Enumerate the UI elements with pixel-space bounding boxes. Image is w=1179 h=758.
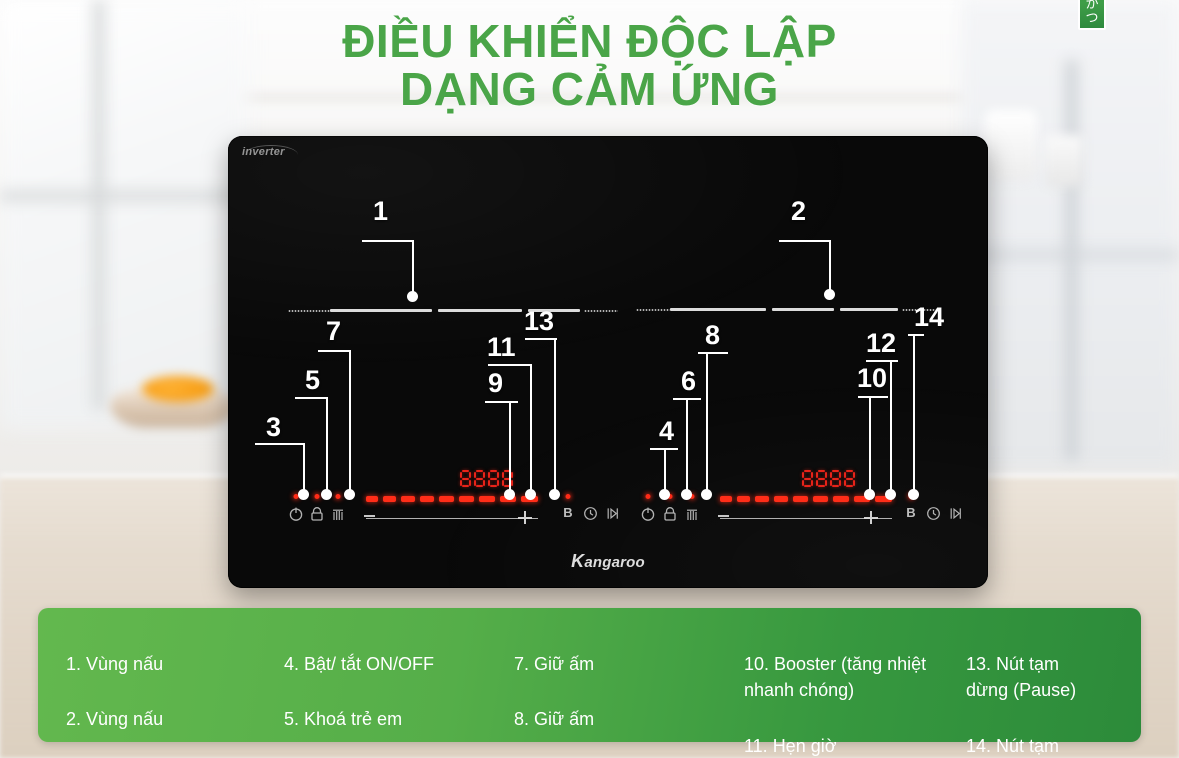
callout-number: 8 xyxy=(705,322,720,349)
cabinet-shelf xyxy=(960,250,1179,260)
induction-cooktop: inverter Kangaroo xyxy=(228,136,988,588)
keep-warm-led xyxy=(336,494,341,499)
callout-dot xyxy=(344,489,355,500)
callout-leader-v xyxy=(686,398,688,494)
control-panel-left: B xyxy=(288,484,618,540)
callout-leader-v xyxy=(913,334,915,494)
legend-item: 4. Bật/ tắt ON/OFF xyxy=(284,651,514,678)
callout-leader-h xyxy=(866,360,898,362)
background-jar-small xyxy=(1045,135,1083,187)
callout-leader-v xyxy=(890,360,892,494)
slider-plus-icon[interactable] xyxy=(518,511,532,524)
slider-plus-icon[interactable] xyxy=(864,511,878,524)
page-title: ĐIỀU KHIỂN ĐỘC LẬP DẠNG CẢM ỨNG xyxy=(0,18,1179,114)
legend-column-4: 10. Booster (tăng nhiệt nhanh chóng) 11.… xyxy=(744,624,966,742)
callout-dot xyxy=(908,489,919,500)
display-right xyxy=(802,470,855,487)
callout-leader-h xyxy=(318,350,351,352)
booster-led xyxy=(566,494,571,499)
legend-item: 7. Giữ ấm xyxy=(514,651,744,678)
background-food xyxy=(142,376,214,402)
callout-leader-h xyxy=(779,240,831,242)
zone-dots-left xyxy=(288,310,330,312)
slider-level-bars xyxy=(366,496,514,505)
seven-segment-digit xyxy=(802,470,813,487)
callout-dot xyxy=(659,489,670,500)
callout-number: 9 xyxy=(488,370,503,397)
slider-bar xyxy=(755,496,769,502)
slider-bar xyxy=(813,496,828,502)
callout-dot xyxy=(681,489,692,500)
cooking-zone-left xyxy=(288,309,618,313)
brand-k: K xyxy=(571,551,584,571)
legend-column-2: 4. Bật/ tắt ON/OFF 5. Khoá trẻ em 6. Kho… xyxy=(284,624,514,742)
inverter-logo: inverter xyxy=(242,146,312,168)
callout-dot xyxy=(321,489,332,500)
keep-warm-icon xyxy=(325,506,351,526)
seven-segment-digit xyxy=(816,470,827,487)
callout-leader-v xyxy=(303,443,305,494)
legend-column-3: 7. Giữ ấm 8. Giữ ấm 9. Booster (tăng nhi… xyxy=(514,624,744,742)
zone-dots-left xyxy=(636,309,670,311)
background-jar xyxy=(985,110,1037,182)
callout-leader-v xyxy=(509,401,511,494)
slider-minus-icon[interactable] xyxy=(364,515,375,517)
callout-dot xyxy=(864,489,875,500)
title-line-2: DẠNG CẢM ỨNG xyxy=(0,66,1179,114)
slider-bar xyxy=(737,496,750,502)
legend-column-5: 13. Nút tạm dừng (Pause) 14. Nút tạm dừn… xyxy=(966,624,1136,742)
legend-item: 1. Vùng nấu xyxy=(66,651,284,678)
callout-leader-h xyxy=(485,401,518,403)
pause-play-icon xyxy=(599,506,625,526)
legend-item: 13. Nút tạm dừng (Pause) xyxy=(966,651,1136,704)
callout-dot xyxy=(525,489,536,500)
slider-bar xyxy=(366,496,378,502)
legend-item: 11. Hẹn giờ xyxy=(744,733,966,758)
slider-minus-icon[interactable] xyxy=(718,515,729,517)
zone-segment xyxy=(772,308,834,311)
power-led xyxy=(646,494,651,499)
callout-number: 6 xyxy=(681,368,696,395)
seven-segment-digit xyxy=(474,470,485,487)
callout-dot xyxy=(407,291,418,302)
seven-segment-digit xyxy=(460,470,471,487)
legend-columns: 1. Vùng nấu 2. Vùng nấu 3. Bật/ tắt ON/O… xyxy=(38,608,1141,742)
callout-dot xyxy=(824,289,835,300)
callout-number: 5 xyxy=(305,367,320,394)
legend-item: 2. Vùng nấu xyxy=(66,706,284,733)
callout-leader-v xyxy=(664,448,666,494)
callout-leader-v xyxy=(829,240,831,294)
callout-leader-h xyxy=(255,443,305,445)
slider-level-bars xyxy=(720,496,860,505)
callout-dot xyxy=(885,489,896,500)
slider-bar xyxy=(720,496,732,502)
keep-warm-icon xyxy=(679,506,705,526)
callout-leader-v xyxy=(326,397,328,494)
callout-leader-v xyxy=(530,364,532,494)
slider-bar xyxy=(401,496,415,502)
title-line-1: ĐIỀU KHIỂN ĐỘC LẬP xyxy=(342,15,837,67)
callout-dot xyxy=(549,489,560,500)
callout-dot xyxy=(504,489,515,500)
callout-leader-v xyxy=(869,396,871,494)
zone-segment xyxy=(670,308,766,311)
callout-number: 10 xyxy=(857,365,887,392)
slider-bar xyxy=(439,496,454,502)
legend-panel: 1. Vùng nấu 2. Vùng nấu 3. Bật/ tắt ON/O… xyxy=(38,608,1141,742)
seven-segment-digit xyxy=(502,470,513,487)
callout-number: 14 xyxy=(914,304,944,331)
callout-leader-h xyxy=(698,352,728,354)
callout-leader-h xyxy=(908,334,924,336)
display-left xyxy=(460,470,513,487)
zone-segment xyxy=(330,309,432,312)
callout-number: 12 xyxy=(866,330,896,357)
callout-leader-v xyxy=(412,240,414,296)
callout-number: 2 xyxy=(791,198,806,225)
callout-leader-v xyxy=(706,352,708,494)
slider-bar xyxy=(833,496,849,502)
slider-bar xyxy=(793,496,808,502)
callout-leader-h xyxy=(858,396,888,398)
zone-segment xyxy=(438,309,522,312)
callout-number: 7 xyxy=(326,318,341,345)
callout-leader-h xyxy=(488,364,532,366)
callout-dot xyxy=(701,489,712,500)
callout-number: 11 xyxy=(487,334,516,361)
callout-number: 13 xyxy=(524,308,554,335)
cooking-zone-right xyxy=(636,308,936,312)
callout-leader-h xyxy=(362,240,414,242)
seven-segment-digit xyxy=(830,470,841,487)
slider-bar xyxy=(420,496,434,502)
japanese-badge: かつ xyxy=(1078,0,1106,30)
brand-rest: angaroo xyxy=(584,554,645,571)
child-lock-led xyxy=(315,494,320,499)
window-mullion-horizontal xyxy=(0,190,248,202)
slider-bar xyxy=(383,496,396,502)
legend-item: 14. Nút tạm dừng (Pause xyxy=(966,733,1136,758)
legend-item: 5. Khoá trẻ em xyxy=(284,706,514,733)
legend-column-1: 1. Vùng nấu 2. Vùng nấu 3. Bật/ tắt ON/O… xyxy=(66,624,284,742)
poster-canvas: かつ ĐIỀU KHIỂN ĐỘC LẬP DẠNG CẢM ỨNG inver… xyxy=(0,0,1179,758)
callout-leader-v xyxy=(554,338,556,494)
slider-bar xyxy=(459,496,474,502)
slider-track[interactable] xyxy=(366,518,538,519)
pause-play-icon xyxy=(942,506,968,526)
slider-bar xyxy=(774,496,788,502)
zone-dots-right xyxy=(584,310,618,312)
legend-item: 8. Giữ ấm xyxy=(514,706,744,733)
callout-number: 3 xyxy=(266,414,281,441)
slider-bar xyxy=(479,496,495,502)
cabinet-edge xyxy=(1065,60,1078,460)
kangaroo-brand-logo: Kangaroo xyxy=(228,551,988,572)
callout-number: 4 xyxy=(659,418,674,445)
callout-dot xyxy=(298,489,309,500)
callout-leader-v xyxy=(349,350,351,494)
callout-leader-h xyxy=(525,338,557,340)
seven-segment-digit xyxy=(488,470,499,487)
callout-number: 1 xyxy=(373,198,388,225)
legend-item: 10. Booster (tăng nhiệt nhanh chóng) xyxy=(744,651,966,704)
zone-segment xyxy=(840,308,898,311)
callout-leader-h xyxy=(295,397,328,399)
seven-segment-digit xyxy=(844,470,855,487)
